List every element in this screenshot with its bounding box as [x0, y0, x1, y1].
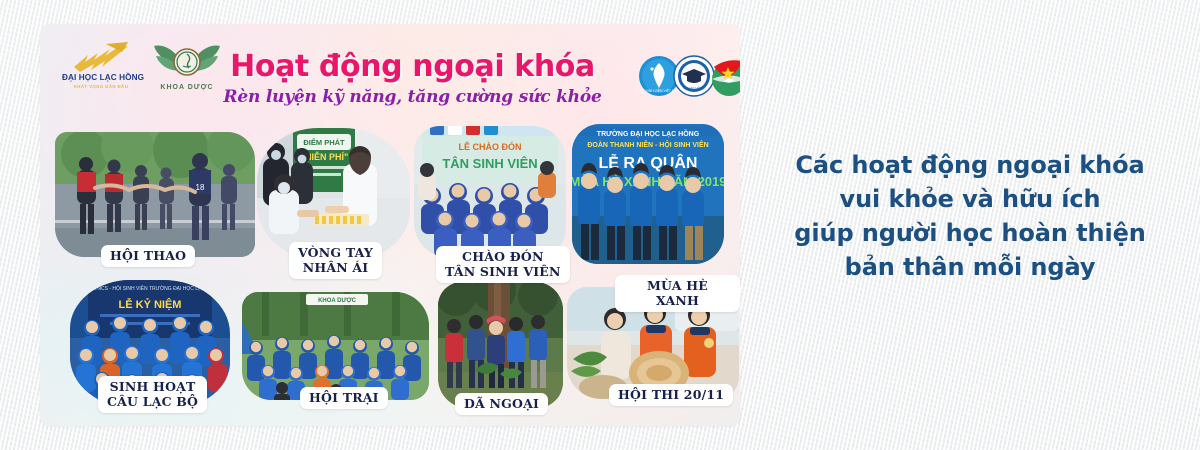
lac-hong-university-logo: ĐẠI HỌC LẠC HỒNG KHÁT VỌNG DẪN ĐẦU	[62, 41, 140, 97]
svg-text:ĐH LẠC HỒNG: ĐH LẠC HỒNG	[684, 85, 706, 90]
photo-label-hoi-thi-20-11: HỘI THI 20/11	[609, 384, 733, 406]
photo-chao-don-tan-sinh-vien: LỄ CHÀO ĐÓN TÂN SINH VIÊN	[414, 126, 566, 258]
photo-label-mua-he-xanh: MÙA HÈ XANH	[615, 275, 740, 312]
svg-text:ĐIỂM PHÁT: ĐIỂM PHÁT	[303, 138, 345, 147]
photo-label-hoi-trai: HỘI TRẠI	[300, 387, 388, 409]
golden-bird-arrow-icon	[72, 41, 130, 73]
photo-label-hoi-thao: HỘI THAO	[101, 245, 195, 267]
faculty-name: KHOA DƯỢC	[152, 84, 222, 91]
caption-text: Các hoạt động ngoại khóa vui khỏe và hữu…	[760, 148, 1180, 284]
svg-text:ĐOÀN THANH NIÊN - HỘI SINH VIÊ: ĐOÀN THANH NIÊN - HỘI SINH VIÊN	[587, 140, 708, 149]
organization-logos: HỘI SINH VIÊN VIỆT NAM ĐH LẠC HỒNG	[638, 55, 740, 101]
photo-vong-tay-nhan-ai: ĐIỂM PHÁT "MIỄN PHÍ"	[257, 128, 410, 260]
poster-subtitle: Rèn luyện kỹ năng, tăng cường sức khỏe	[215, 87, 610, 107]
svg-text:LỄ KỶ NIỆM: LỄ KỶ NIỆM	[119, 298, 182, 311]
photo-mua-he-xanh: TRƯỜNG ĐẠI HỌC LẠC HỒNG ĐOÀN THANH NIÊN …	[572, 124, 724, 264]
poster-header: ĐẠI HỌC LẠC HỒNG KHÁT VỌNG DẪN ĐẦU KHOA …	[40, 24, 740, 124]
poster-card: ĐẠI HỌC LẠC HỒNG KHÁT VỌNG DẪN ĐẦU KHOA …	[40, 24, 740, 426]
photo-da-ngoai	[438, 282, 563, 408]
green-wings-emblem-icon	[152, 40, 222, 86]
page-background: ĐẠI HỌC LẠC HỒNG KHÁT VỌNG DẪN ĐẦU KHOA …	[0, 0, 1200, 450]
photo-label-chao-don-tan-sinh-vien: CHÀO ĐÓN TÂN SINH VIÊN	[436, 246, 570, 283]
photo-label-vong-tay-nhan-ai: VÒNG TAY NHÂN ÁI	[289, 242, 382, 279]
svg-text:18: 18	[196, 183, 205, 192]
faculty-of-pharmacy-logo: KHOA DƯỢC	[152, 40, 222, 98]
ho-chi-minh-youth-union-logo	[708, 55, 740, 97]
svg-text:TÂN SINH VIÊN: TÂN SINH VIÊN	[442, 156, 537, 171]
svg-text:ĐOÀN TNCS - HỘI SINH VIÊN TRƯỜ: ĐOÀN TNCS - HỘI SINH VIÊN TRƯỜNG ĐẠI HỌC…	[79, 284, 222, 292]
svg-text:KHOA DƯỢC: KHOA DƯỢC	[318, 298, 357, 304]
photo-hoi-thao: 18	[55, 132, 255, 257]
photo-label-sinh-hoat-cau-lac-bo: SINH HOẠT CÂU LẠC BỘ	[98, 376, 207, 413]
svg-text:LỄ CHÀO ĐÓN: LỄ CHÀO ĐÓN	[459, 141, 522, 152]
university-tagline: KHÁT VỌNG DẪN ĐẦU	[62, 84, 140, 89]
university-name: ĐẠI HỌC LẠC HỒNG	[62, 73, 140, 82]
poster-title: Hoạt động ngoại khóa	[215, 50, 610, 84]
photo-label-da-ngoai: DÃ NGOẠI	[455, 393, 548, 415]
photo-hoi-trai: KHOA DƯỢC	[242, 292, 429, 400]
